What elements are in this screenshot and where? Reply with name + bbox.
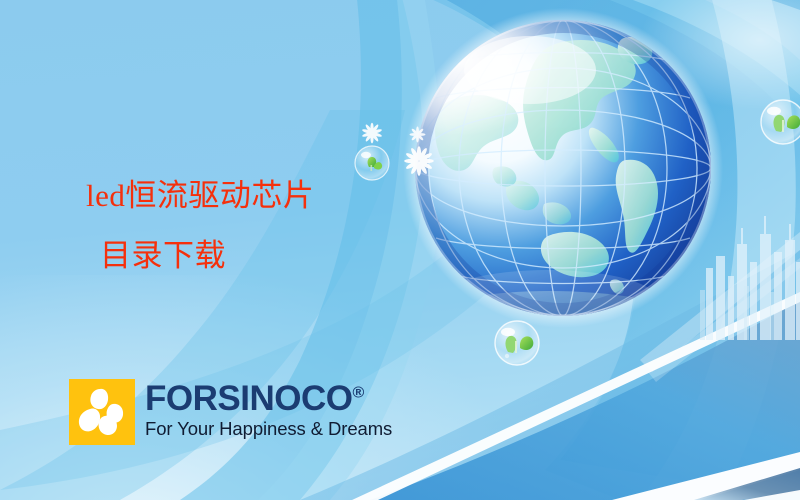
forsinoco-flower-mark	[69, 379, 135, 445]
headline-line-1: led恒流驱动芯片	[86, 178, 314, 213]
bubble-with-green-sprout-right	[761, 100, 800, 144]
logo-wordmark: FORSINOCO	[145, 379, 352, 418]
logo-name: FORSINOCO®	[145, 381, 392, 417]
registered-trademark-icon: ®	[352, 384, 363, 401]
promo-banner: led恒流驱动芯片 目录下载 FORSINOCO® For Your Happ	[0, 0, 800, 500]
bubble-with-green-sprout-lower	[495, 321, 539, 365]
logo-tagline: For Your Happiness & Dreams	[145, 418, 392, 440]
logo-text-block: FORSINOCO® For Your Happiness & Dreams	[145, 379, 392, 440]
headline-line-2: 目录下载	[86, 226, 416, 286]
headline: led恒流驱动芯片 目录下载	[86, 166, 416, 286]
forsinoco-logo: FORSINOCO® For Your Happiness & Dreams	[69, 379, 392, 445]
